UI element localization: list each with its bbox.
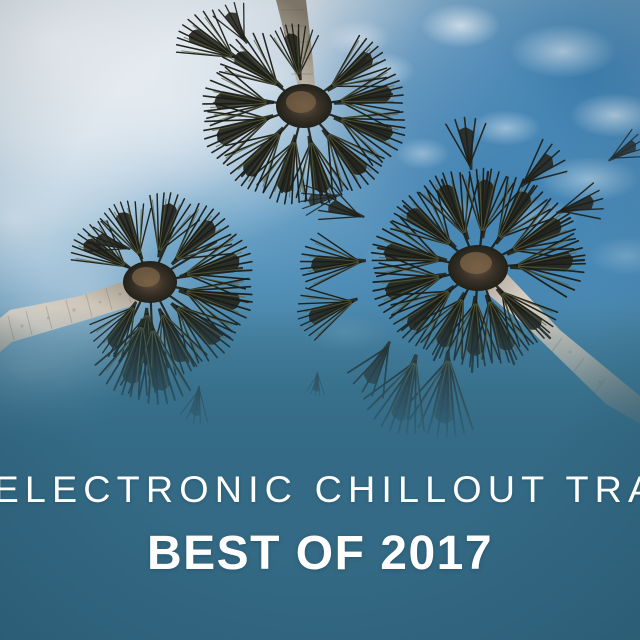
title-block: ELECTRONIC CHILLOUT TRACKS BEST OF 2017 [0,471,640,578]
album-subtitle: ELECTRONIC CHILLOUT TRACKS [0,471,640,508]
album-title: BEST OF 2017 [0,530,640,578]
album-cover: ELECTRONIC CHILLOUT TRACKS BEST OF 2017 [0,0,640,640]
